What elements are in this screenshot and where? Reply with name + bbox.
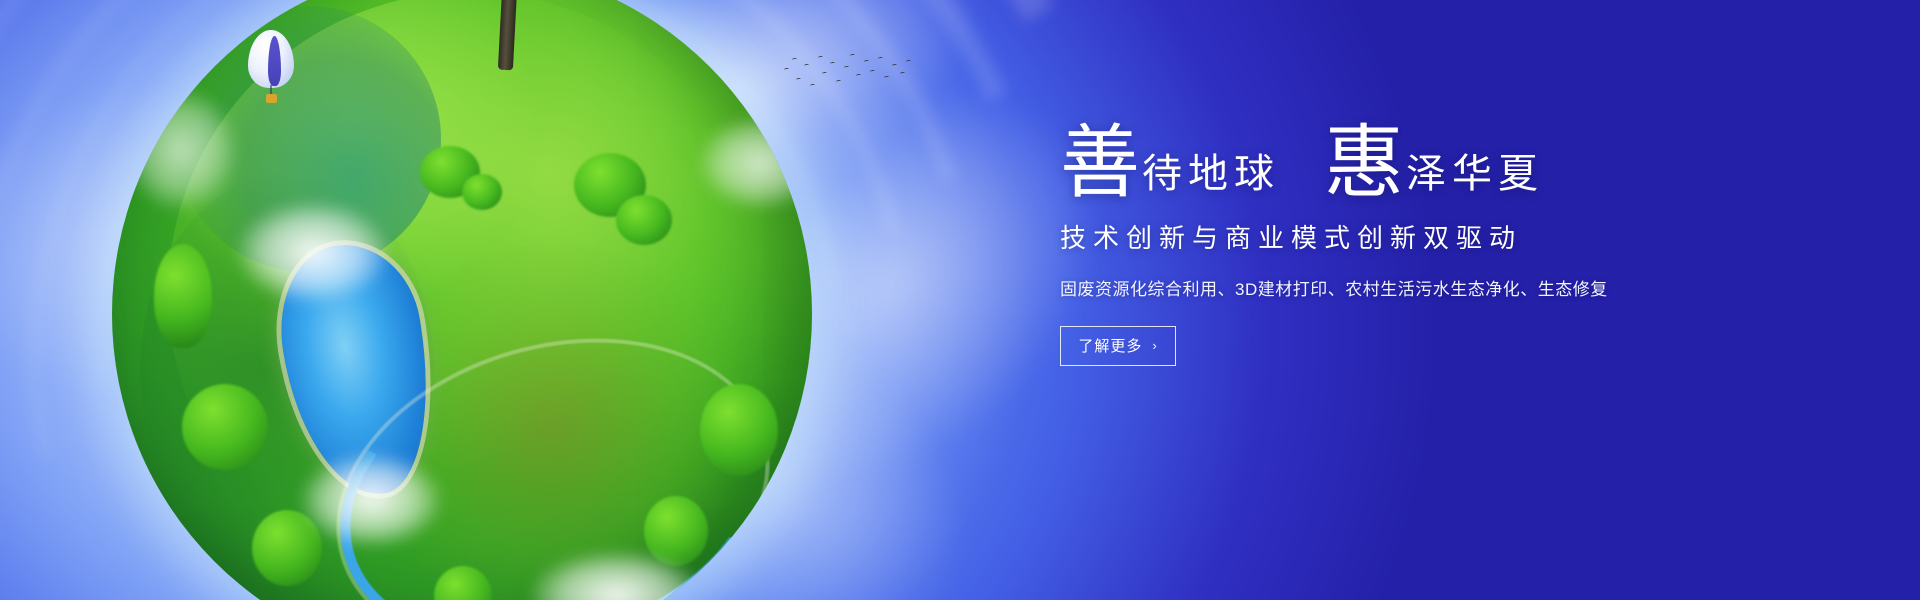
bird-icon bbox=[906, 60, 911, 64]
bird-icon bbox=[850, 54, 855, 58]
hot-air-balloon-icon bbox=[248, 30, 294, 112]
globe-rim-light bbox=[112, 0, 812, 600]
bird-icon bbox=[822, 72, 827, 76]
headline-char-shan: 善 bbox=[1060, 128, 1140, 202]
bird-icon bbox=[900, 72, 905, 76]
bird-icon bbox=[792, 58, 797, 62]
bird-icon bbox=[836, 80, 841, 84]
headline-daidiqiu: 待地球 bbox=[1142, 154, 1280, 202]
balloon-basket bbox=[266, 94, 277, 103]
bird-flock-icon bbox=[782, 52, 912, 100]
bird-icon bbox=[844, 66, 849, 70]
hero-copy-block: 善 待地球 惠 泽华夏 技术创新与商业模式创新双驱动 固废资源化综合利用、3D建… bbox=[1060, 128, 1700, 366]
hero-description: 固废资源化综合利用、3D建材打印、农村生活污水生态净化、生态修复 bbox=[1060, 275, 1700, 300]
bird-icon bbox=[878, 57, 883, 61]
learn-more-label: 了解更多 bbox=[1078, 335, 1142, 356]
bird-icon bbox=[864, 60, 869, 64]
bird-icon bbox=[810, 84, 815, 88]
earth-globe-image bbox=[112, 0, 812, 600]
bird-icon bbox=[870, 70, 875, 74]
hero-banner: 善 待地球 惠 泽华夏 技术创新与商业模式创新双驱动 固废资源化综合利用、3D建… bbox=[0, 0, 1920, 600]
learn-more-button[interactable]: 了解更多 › bbox=[1060, 326, 1176, 366]
bird-icon bbox=[818, 56, 823, 60]
globe-sphere bbox=[112, 0, 812, 600]
chevron-right-icon: › bbox=[1152, 338, 1157, 353]
hero-headline: 善 待地球 惠 泽华夏 bbox=[1060, 128, 1700, 202]
bird-icon bbox=[892, 64, 897, 68]
hero-subtitle: 技术创新与商业模式创新双驱动 bbox=[1060, 218, 1700, 255]
headline-char-hui: 惠 bbox=[1324, 128, 1404, 202]
bird-icon bbox=[804, 64, 809, 68]
headline-zehuaxia: 泽华夏 bbox=[1406, 154, 1544, 202]
bird-icon bbox=[856, 74, 861, 78]
bird-icon bbox=[784, 68, 789, 72]
bird-icon bbox=[796, 78, 801, 82]
bird-icon bbox=[830, 62, 835, 66]
bird-icon bbox=[884, 76, 889, 80]
